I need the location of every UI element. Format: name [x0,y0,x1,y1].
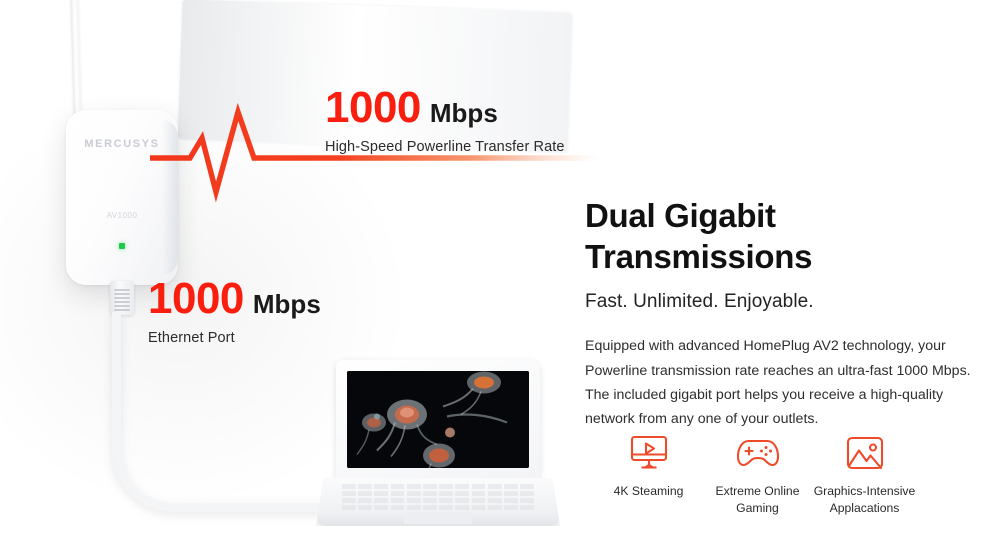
callout-description: Ethernet Port [148,330,321,346]
rj45-pins [114,289,130,311]
callout-value: 1000 [148,277,244,321]
image-mountain-icon [813,432,916,474]
callout-description: High-Speed Powerline Transfer Rate [325,139,565,155]
laptop-screen [347,371,529,468]
title-line-2: Transmissions [585,238,812,275]
jellyfish-wallpaper [347,371,529,468]
feature-list: 4K Steaming Extreme Online Gaming [585,432,975,517]
laptop-trackpad [404,513,472,524]
callout-unit: Mbps [430,100,498,126]
marketing-copy-block: Dual Gigabit Transmissions Fast. Unlimit… [585,196,975,432]
laptop-keyboard [342,484,534,510]
callout-value: 1000 [325,86,421,130]
laptop-lid [336,360,540,480]
monitor-play-icon [597,432,700,474]
callout-powerline-rate: 1000Mbps High-Speed Powerline Transfer R… [325,86,565,155]
laptop-device [316,360,560,540]
feature-item: 4K Steaming [597,432,700,500]
antenna-left [70,0,81,124]
product-marketing-banner: MERCUSYS AV1000 1000Mbps High-Speed Powe… [0,0,1000,556]
status-led-indicator [119,243,125,249]
callout-unit: Mbps [253,291,321,317]
title-line-1: Dual Gigabit [585,197,776,234]
feature-label: 4K Steaming [597,483,700,500]
feature-label: Extreme Online Gaming [706,483,809,517]
rj45-connector [110,281,134,315]
gamepad-icon [706,432,809,474]
callout-ethernet-port: 1000Mbps Ethernet Port [148,277,321,346]
feature-item: Extreme Online Gaming [706,432,809,517]
body-paragraph: Equipped with advanced HomePlug AV2 tech… [585,334,975,432]
tagline: Fast. Unlimited. Enjoyable. [585,291,975,313]
feature-item: Graphics-Intensive Applacations [813,432,916,517]
page-title: Dual Gigabit Transmissions [585,196,975,277]
feature-label: Graphics-Intensive Applacations [813,483,916,517]
